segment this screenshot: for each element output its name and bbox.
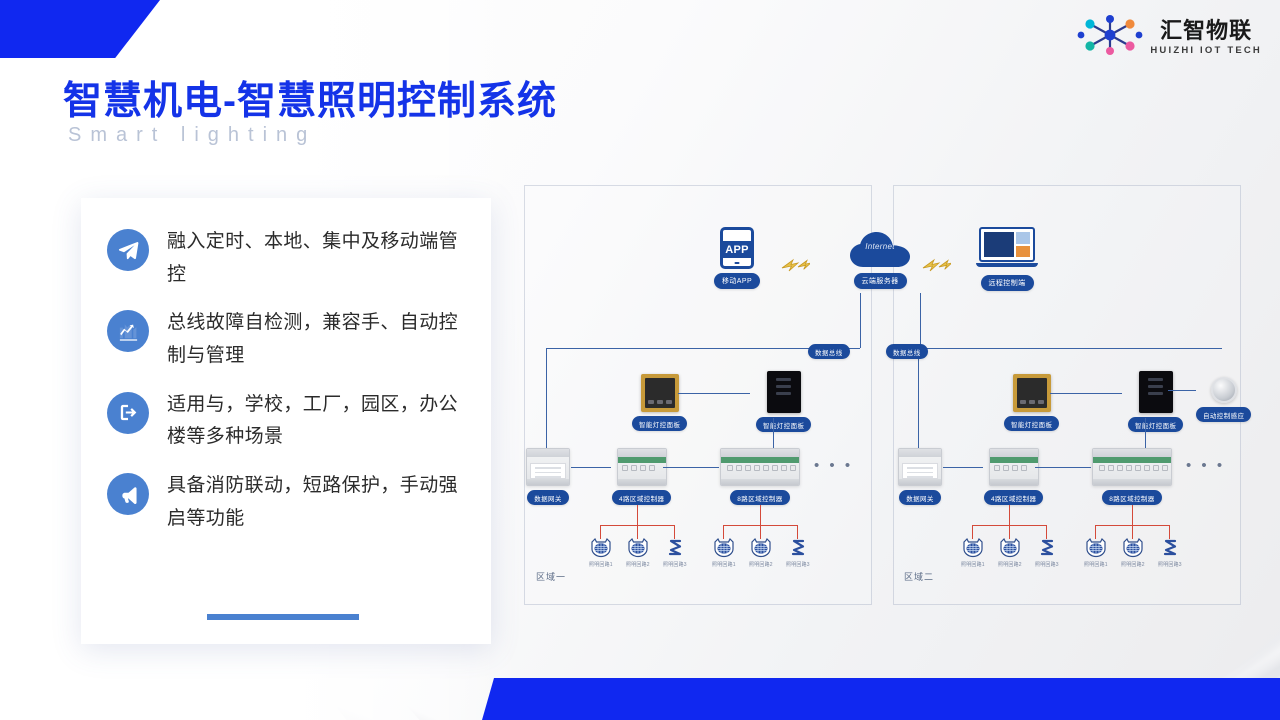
mobile-app-label: 移动APP bbox=[714, 273, 760, 289]
zone-two-circuit-3: 照明回路3 bbox=[1035, 538, 1059, 568]
feature-text: 融入定时、本地、集中及移动端管控 bbox=[167, 226, 467, 291]
send-icon bbox=[107, 229, 149, 271]
zone-one-circuit-6: 照明回路3 bbox=[786, 538, 810, 568]
circuit-label: 照明回路1 bbox=[589, 561, 613, 568]
data-bus-label: 数据总线 bbox=[886, 344, 928, 359]
feature-text: 具备消防联动，短路保护，手动强启等功能 bbox=[167, 470, 467, 535]
smart-lighting-panel-icon bbox=[767, 371, 801, 413]
lamp-fixture-icon bbox=[713, 538, 735, 558]
zone-controller-icon bbox=[720, 448, 800, 486]
cloud-icon: Internet bbox=[846, 227, 914, 269]
lamp-fixture-icon bbox=[1122, 538, 1144, 558]
smart-lighting-panel-icon bbox=[1013, 374, 1051, 412]
panel-label: 智能灯控面板 bbox=[756, 417, 811, 432]
circuit-label: 照明回路3 bbox=[1158, 561, 1182, 568]
circuit-label: 照明回路2 bbox=[1121, 561, 1145, 568]
zone-one-overflow: • • • bbox=[814, 457, 853, 474]
circuit-label: 照明回路2 bbox=[626, 561, 650, 568]
cloud-server-node: Internet 云端服务器 bbox=[846, 227, 914, 289]
gateway-label: 数据网关 bbox=[527, 490, 569, 505]
panel-label: 智能灯控面板 bbox=[632, 416, 687, 431]
card-accent-underline bbox=[207, 614, 359, 620]
system-architecture-diagram: 区域一 区域二 APP 移动APP Internet 云端服务器 远程控制端 bbox=[508, 185, 1268, 615]
feature-text: 总线故障自检测，兼容手、自动控制与管理 bbox=[167, 307, 467, 372]
smart-lighting-panel-icon bbox=[641, 374, 679, 412]
wireless-bolt-icon bbox=[780, 257, 810, 278]
logo-name-cn: 汇智物联 bbox=[1160, 20, 1252, 42]
circuit-label: 照明回路3 bbox=[663, 561, 687, 568]
lamp-fixture-icon bbox=[962, 538, 984, 558]
mobile-app-node: APP 移动APP bbox=[714, 227, 760, 289]
controller-label: 8路区域控制器 bbox=[730, 490, 789, 505]
wireless-bolt-icon bbox=[921, 257, 951, 278]
feature-item: 总线故障自检测，兼容手、自动控制与管理 bbox=[107, 307, 469, 372]
circuit-label: 照明回路3 bbox=[786, 561, 810, 568]
zone-one-gateway: 数据网关 bbox=[526, 448, 570, 505]
lamp-fixture-icon bbox=[750, 538, 772, 558]
feature-text: 适用与，学校，工厂，园区，办公楼等多种场景 bbox=[167, 389, 467, 454]
cloud-glyph-label: Internet bbox=[846, 242, 914, 251]
chart-up-icon bbox=[107, 310, 149, 352]
zone-two-frame bbox=[893, 185, 1241, 605]
data-bus-label: 数据总线 bbox=[808, 344, 850, 359]
circuit-label: 照明回路2 bbox=[749, 561, 773, 568]
zone-one-controller-8way: 8路区域控制器 bbox=[720, 448, 800, 505]
sensor-knob-icon bbox=[1211, 377, 1237, 403]
zone-two-gateway: 数据网关 bbox=[898, 448, 942, 505]
lamp-fixture-icon bbox=[627, 538, 649, 558]
data-gateway-icon bbox=[526, 448, 570, 486]
smart-lighting-panel-icon bbox=[1139, 371, 1173, 413]
app-glyph-label: APP bbox=[725, 244, 749, 256]
zone-one-frame bbox=[524, 185, 872, 605]
zone-one-circuit-4: 照明回路1 bbox=[712, 538, 736, 568]
zone-two-circuit-2: 照明回路2 bbox=[998, 538, 1022, 568]
feature-item: 融入定时、本地、集中及移动端管控 bbox=[107, 226, 469, 291]
remote-control-label: 远程控制端 bbox=[981, 275, 1034, 291]
zone-controller-icon bbox=[617, 448, 667, 486]
page-subtitle: Smart lighting bbox=[68, 124, 316, 147]
gateway-label: 数据网关 bbox=[899, 490, 941, 505]
zone-one-circuit-2: 照明回路2 bbox=[626, 538, 650, 568]
panel-label: 智能灯控面板 bbox=[1004, 416, 1059, 431]
lamp-strip-icon bbox=[664, 538, 686, 558]
data-gateway-icon bbox=[898, 448, 942, 486]
lamp-strip-icon bbox=[1159, 538, 1181, 558]
zone-two-circuit-5: 照明回路2 bbox=[1121, 538, 1145, 568]
brand-logo: 汇智物联 HUIZHI IOT TECH bbox=[1077, 15, 1262, 60]
feature-item: 适用与，学校，工厂，园区，办公楼等多种场景 bbox=[107, 389, 469, 454]
zone-two-controller-8way: 8路区域控制器 bbox=[1092, 448, 1172, 505]
sensor-label: 自动控制感应 bbox=[1196, 407, 1251, 422]
zone-one-panel-black: 智能灯控面板 bbox=[756, 371, 811, 432]
circuit-label: 照明回路1 bbox=[712, 561, 736, 568]
zone-one-circuit-1: 照明回路1 bbox=[589, 538, 613, 568]
laptop-icon bbox=[976, 227, 1038, 271]
megaphone-icon bbox=[107, 473, 149, 515]
zone-two-controller-4way: 4路区域控制器 bbox=[984, 448, 1043, 505]
panel-label: 智能灯控面板 bbox=[1128, 417, 1183, 432]
phone-icon: APP bbox=[720, 227, 754, 269]
remote-control-node: 远程控制端 bbox=[976, 227, 1038, 291]
controller-label: 8路区域控制器 bbox=[1102, 490, 1161, 505]
zone-two-auto-sensor: 自动控制感应 bbox=[1196, 377, 1251, 422]
zone-one-panel-gold: 智能灯控面板 bbox=[632, 374, 687, 431]
zone-two-overflow: • • • bbox=[1186, 457, 1225, 474]
lamp-fixture-icon bbox=[590, 538, 612, 558]
zone-two-panel-black: 智能灯控面板 bbox=[1128, 371, 1183, 432]
zone-two-label: 区域二 bbox=[904, 570, 934, 583]
zone-two-circuit-6: 照明回路3 bbox=[1158, 538, 1182, 568]
lamp-fixture-icon bbox=[1085, 538, 1107, 558]
zone-one-circuit-5: 照明回路2 bbox=[749, 538, 773, 568]
lamp-strip-icon bbox=[787, 538, 809, 558]
zone-controller-icon bbox=[989, 448, 1039, 486]
circuit-label: 照明回路1 bbox=[1084, 561, 1108, 568]
logo-name-en: HUIZHI IOT TECH bbox=[1150, 46, 1262, 56]
zone-two-circuit-4: 照明回路1 bbox=[1084, 538, 1108, 568]
zone-one-label: 区域一 bbox=[536, 570, 566, 583]
cloud-server-label: 云端服务器 bbox=[854, 273, 907, 289]
page-title: 智慧机电-智慧照明控制系统 bbox=[63, 70, 557, 126]
zone-two-panel-gold: 智能灯控面板 bbox=[1004, 374, 1059, 431]
zone-one-circuit-3: 照明回路3 bbox=[663, 538, 687, 568]
feature-item: 具备消防联动，短路保护，手动强启等功能 bbox=[107, 470, 469, 535]
lamp-fixture-icon bbox=[999, 538, 1021, 558]
controller-label: 4路区域控制器 bbox=[612, 490, 671, 505]
exit-arrow-icon bbox=[107, 392, 149, 434]
controller-label: 4路区域控制器 bbox=[984, 490, 1043, 505]
circuit-label: 照明回路3 bbox=[1035, 561, 1059, 568]
molecule-network-icon bbox=[1077, 15, 1143, 60]
zone-one-controller-4way: 4路区域控制器 bbox=[612, 448, 671, 505]
features-card: 融入定时、本地、集中及移动端管控 总线故障自检测，兼容手、自动控制与管理 适用与… bbox=[81, 198, 491, 644]
circuit-label: 照明回路1 bbox=[961, 561, 985, 568]
circuit-label: 照明回路2 bbox=[998, 561, 1022, 568]
zone-two-circuit-1: 照明回路1 bbox=[961, 538, 985, 568]
lamp-strip-icon bbox=[1036, 538, 1058, 558]
zone-controller-icon bbox=[1092, 448, 1172, 486]
